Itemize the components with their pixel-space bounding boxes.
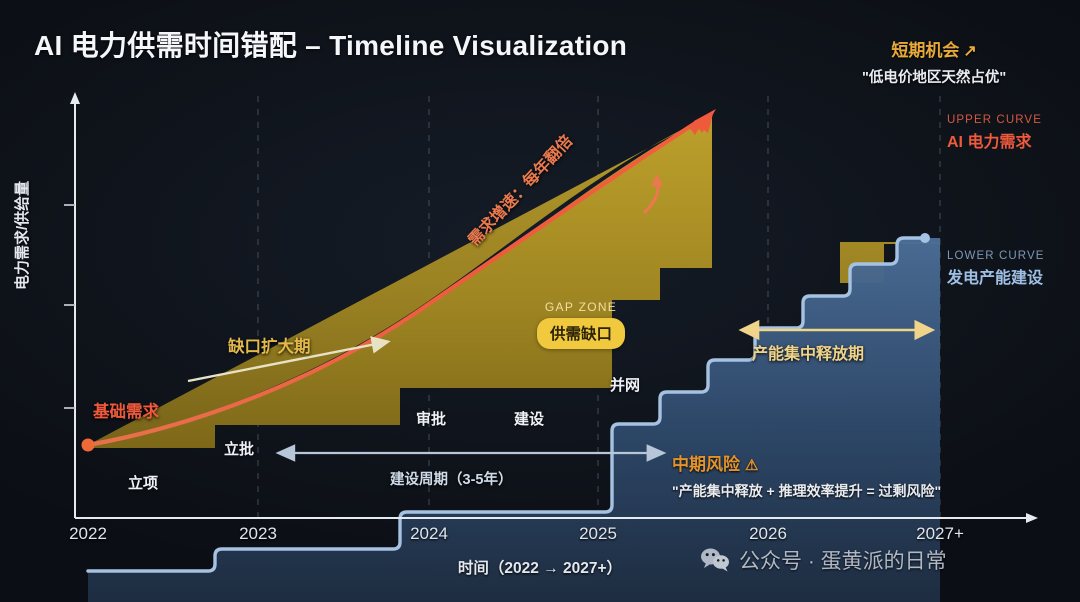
x-axis-tick-label: 2022 xyxy=(43,524,133,544)
x-axis-tick-label: 2027+ xyxy=(895,524,985,544)
watermark-text: 公众号 · 蛋黄派的日常 xyxy=(739,545,947,575)
x-axis-tick-label: 2026 xyxy=(723,524,813,544)
x-axis-tick-label: 2024 xyxy=(384,524,474,544)
x-axis-tick-label: 2025 xyxy=(553,524,643,544)
x-axis-ticks-group: 202220232024202520262027+ xyxy=(0,0,1080,602)
chart-canvas: AI 电力供需时间错配 – Timeline Visualization 短期机… xyxy=(0,0,1080,602)
watermark: 公众号 · 蛋黄派的日常 xyxy=(700,545,947,575)
x-axis-tick-label: 2023 xyxy=(213,524,303,544)
wechat-icon xyxy=(700,547,730,573)
y-axis-title: 电力需求/供给量 xyxy=(11,110,32,290)
